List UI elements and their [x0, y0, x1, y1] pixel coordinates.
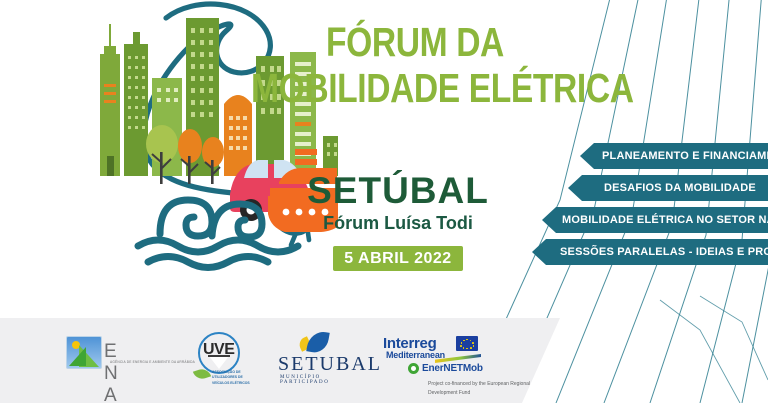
interreg-subtitle: Mediterranean [386, 350, 445, 360]
enernetmob-mark-icon [408, 363, 419, 374]
poster-canvas: FÓRUM DA MOBILIDADE ELÉTRICA SETÚBAL Fór… [0, 0, 768, 403]
setubal-subtitle: MUNICÍPIO PARTICIPADO [280, 375, 329, 385]
uve-plug-icon [209, 356, 229, 369]
title-line-1: FÓRUM DA [251, 22, 579, 64]
enernetmob-wordmark: EnerNETMob [422, 363, 483, 374]
uve-plug-line-icon [208, 355, 230, 357]
event-date-badge: 5 ABRIL 2022 [333, 246, 462, 271]
topics-list: PLANEAMENTO E FINANCIAMENTO DESAFIOS DA … [520, 143, 768, 271]
uve-wordmark: UVE [203, 341, 234, 359]
logos-row: E N A AGÊNCIA DE ENERGIA E AMBIENTE DA A… [0, 318, 580, 403]
setubal-wordmark: SETUBAL [278, 353, 382, 376]
eu-flag-icon [456, 336, 478, 351]
uve-subtitle: ASSOCIAÇÃO DE UTILIZADORES DE VEÍCULOS E… [212, 370, 260, 386]
venue-block: SETÚBAL Fórum Luísa Todi 5 ABRIL 2022 [262, 172, 534, 271]
topic-banner-nautico[interactable]: MOBILIDADE ELÉTRICA NO SETOR NÁUTICO [542, 207, 768, 233]
interreg-swoosh-icon [435, 354, 481, 363]
interreg-wordmark: Interreg [383, 335, 436, 352]
venue-city: SETÚBAL [262, 172, 534, 209]
ena-wordmark: E N A [104, 341, 121, 403]
topic-banner-desafios[interactable]: DESAFIOS DA MOBILIDADE [568, 175, 768, 201]
topic-banner-planeamento[interactable]: PLANEAMENTO E FINANCIAMENTO [580, 143, 768, 169]
setubal-leaf-yellow-icon [297, 336, 312, 352]
ena-hill-light-icon [79, 345, 99, 367]
footer-background [0, 318, 580, 403]
venue-place: Fórum Luísa Todi [262, 214, 534, 232]
ena-subtitle: AGÊNCIA DE ENERGIA E AMBIENTE DA ARRÁBID… [105, 360, 200, 365]
ena-mark-icon [66, 336, 102, 369]
eu-funding-fineprint: Project co-financed by the European Regi… [428, 380, 553, 398]
poster-title: FÓRUM DA MOBILIDADE ELÉTRICA [215, 22, 615, 110]
uve-leaf-icon [193, 367, 211, 381]
ena-hill-dark-icon [69, 347, 86, 366]
footer-logo-strip: E N A AGÊNCIA DE ENERGIA E AMBIENTE DA A… [0, 318, 768, 403]
setubal-leaf-blue-icon [306, 329, 330, 354]
topic-banner-sessoes[interactable]: SESSÕES PARALELAS - IDEIAS E PROJETOS [532, 239, 768, 265]
title-line-2: MOBILIDADE ELÉTRICA [251, 68, 579, 110]
uve-circle-icon [198, 332, 240, 374]
ena-sun-icon [72, 341, 80, 349]
